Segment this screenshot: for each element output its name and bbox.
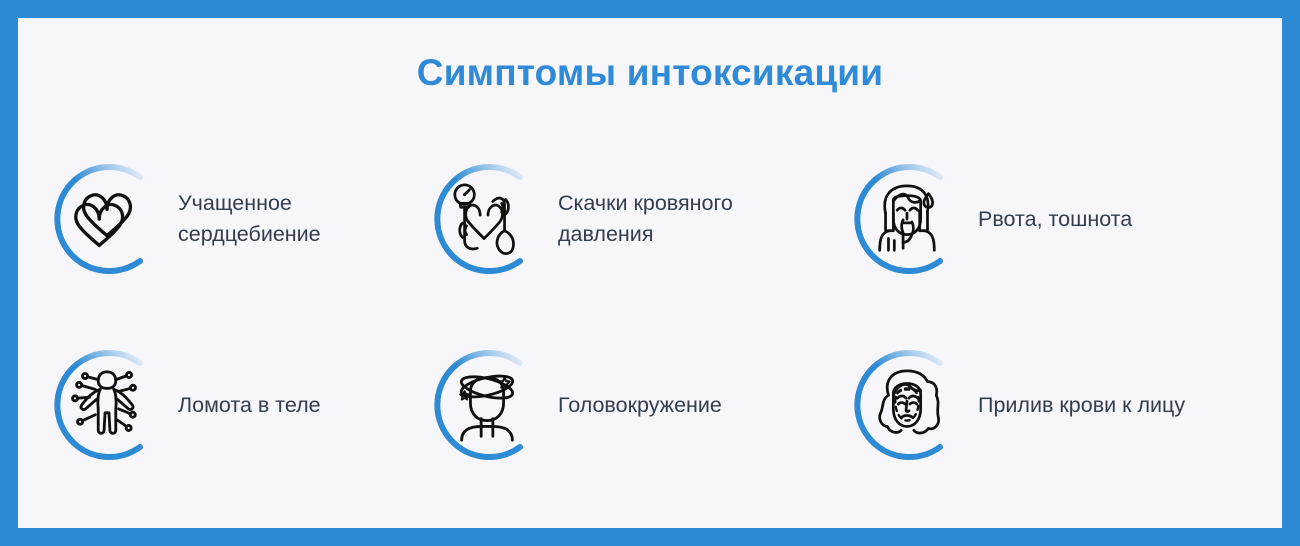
symptom-label: Ломота в теле — [164, 390, 321, 421]
symptom-badge — [48, 161, 164, 277]
body-pain-points-icon — [68, 365, 146, 445]
symptom-badge — [848, 347, 964, 463]
symptom-label: Рвота, тошнота — [964, 204, 1132, 235]
double-heart-icon — [68, 179, 146, 259]
symptom-item-blood-pressure-spikes[interactable]: Скачки кровяного давления — [428, 126, 848, 312]
symptom-label: Скачки кровяного давления — [544, 188, 733, 250]
symptom-item-dizziness[interactable]: Головокружение — [428, 312, 848, 498]
dizzy-head-icon — [448, 365, 526, 445]
symptom-badge — [428, 347, 544, 463]
symptom-item-body-aches[interactable]: Ломота в теле — [48, 312, 428, 498]
symptom-item-rapid-heartbeat[interactable]: Учащенное сердцебиение — [48, 126, 428, 312]
page-title: Симптомы интоксикации — [18, 52, 1282, 94]
symptom-label: Учащенное сердцебиение — [164, 188, 321, 250]
blood-pressure-monitor-icon — [448, 179, 526, 259]
flushed-face-icon — [868, 365, 946, 445]
symptom-label: Прилив крови к лицу — [964, 390, 1185, 421]
symptom-item-vomiting-nausea[interactable]: Рвота, тошнота — [848, 126, 1252, 312]
nauseated-person-icon — [868, 179, 946, 259]
symptoms-grid: Учащенное сердцебиение — [48, 126, 1252, 506]
infographic-frame: Симптомы интоксикации — [0, 0, 1300, 546]
symptom-badge — [48, 347, 164, 463]
symptom-badge — [848, 161, 964, 277]
symptom-item-facial-flushing[interactable]: Прилив крови к лицу — [848, 312, 1252, 498]
symptom-badge — [428, 161, 544, 277]
infographic-panel: Симптомы интоксикации — [18, 18, 1282, 528]
symptom-label: Головокружение — [544, 390, 722, 421]
